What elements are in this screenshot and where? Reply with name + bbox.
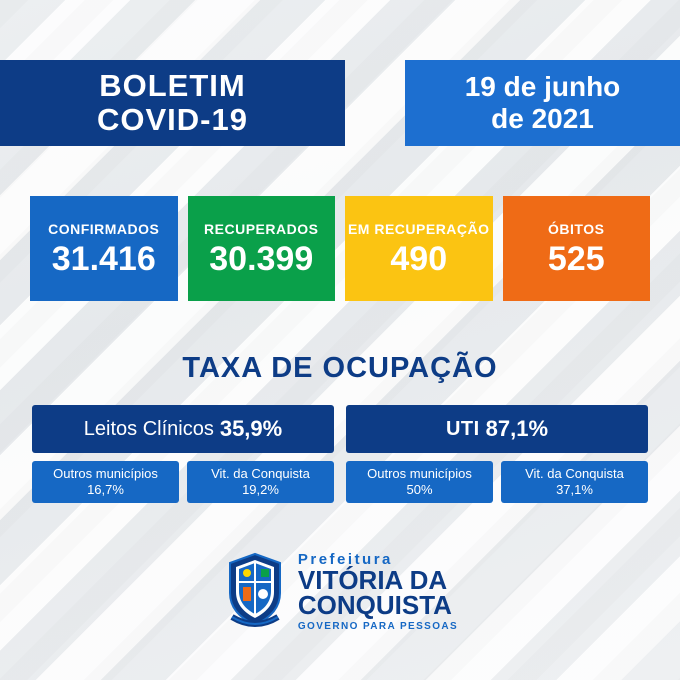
breakdown-label: Vit. da Conquista — [525, 466, 624, 482]
stat-label: EM RECUPERAÇÃO — [348, 221, 490, 237]
occupancy-panels: Leitos Clínicos35,9% Outros municípios 1… — [32, 405, 648, 503]
stat-value: 31.416 — [52, 241, 156, 277]
occupancy-name: UTI — [446, 418, 480, 441]
stat-card-em-recuperacao: EM RECUPERAÇÃO 490 — [345, 196, 493, 301]
logo-text: Prefeitura VITÓRIA DA CONQUISTA GOVERNO … — [298, 551, 458, 632]
breakdown-outros-municipios: Outros municípios 16,7% — [32, 461, 179, 503]
breakdown-label: Outros municípios — [367, 466, 472, 482]
occupancy-rate: 35,9% — [220, 416, 282, 442]
bulletin-title-box: BOLETIM COVID-19 — [0, 60, 345, 146]
logo-line-vitoria-da: VITÓRIA DA — [298, 568, 458, 593]
occupancy-header-uti: UTI87,1% — [346, 405, 648, 453]
bulletin-title-line2: COVID-19 — [97, 103, 248, 137]
bulletin-date-box: 19 de junho de 2021 — [405, 60, 680, 146]
bulletin-title-line1: BOLETIM — [99, 69, 246, 103]
logo-line-conquista: CONQUISTA — [298, 593, 458, 618]
breakdown-vitoria-da-conquista: Vit. da Conquista 19,2% — [187, 461, 334, 503]
occupancy-column-uti: UTI87,1% Outros municípios 50% Vit. da C… — [346, 405, 648, 503]
breakdown-value: 50% — [406, 482, 432, 498]
logo-tagline: GOVERNO PARA PESSOAS — [298, 621, 458, 632]
stat-card-obitos: ÓBITOS 525 — [503, 196, 651, 301]
breakdown-outros-municipios: Outros municípios 50% — [346, 461, 493, 503]
breakdown-value: 19,2% — [242, 482, 279, 498]
occupancy-section-title: TAXA DE OCUPAÇÃO — [0, 352, 680, 385]
breakdown-label: Outros municípios — [53, 466, 158, 482]
stat-value: 490 — [390, 241, 447, 277]
header: BOLETIM COVID-19 19 de junho de 2021 — [0, 60, 680, 146]
breakdown-value: 16,7% — [87, 482, 124, 498]
city-hall-logo: Prefeitura VITÓRIA DA CONQUISTA GOVERNO … — [0, 548, 680, 634]
coat-of-arms-icon — [222, 551, 288, 631]
stat-card-recuperados: RECUPERADOS 30.399 — [188, 196, 336, 301]
stat-label: CONFIRMADOS — [48, 221, 159, 237]
occupancy-breakdown-leitos: Outros municípios 16,7% Vit. da Conquist… — [32, 461, 334, 503]
breakdown-label: Vit. da Conquista — [211, 466, 310, 482]
bulletin-date-line2: de 2021 — [491, 103, 594, 135]
occupancy-rate: 87,1% — [486, 416, 548, 442]
breakdown-value: 37,1% — [556, 482, 593, 498]
stat-value: 525 — [548, 241, 605, 277]
bulletin-date-line1: 19 de junho — [465, 71, 621, 103]
breakdown-vitoria-da-conquista: Vit. da Conquista 37,1% — [501, 461, 648, 503]
stat-cards: CONFIRMADOS 31.416 RECUPERADOS 30.399 EM… — [30, 196, 650, 301]
occupancy-name: Leitos Clínicos — [84, 418, 214, 441]
stat-value: 30.399 — [209, 241, 313, 277]
occupancy-column-leitos-clinicos: Leitos Clínicos35,9% Outros municípios 1… — [32, 405, 334, 503]
stat-card-confirmados: CONFIRMADOS 31.416 — [30, 196, 178, 301]
occupancy-breakdown-uti: Outros municípios 50% Vit. da Conquista … — [346, 461, 648, 503]
occupancy-header-leitos: Leitos Clínicos35,9% — [32, 405, 334, 453]
bulletin-page: BOLETIM COVID-19 19 de junho de 2021 CON… — [0, 0, 680, 680]
stat-label: RECUPERADOS — [204, 221, 318, 237]
stat-label: ÓBITOS — [548, 221, 604, 237]
